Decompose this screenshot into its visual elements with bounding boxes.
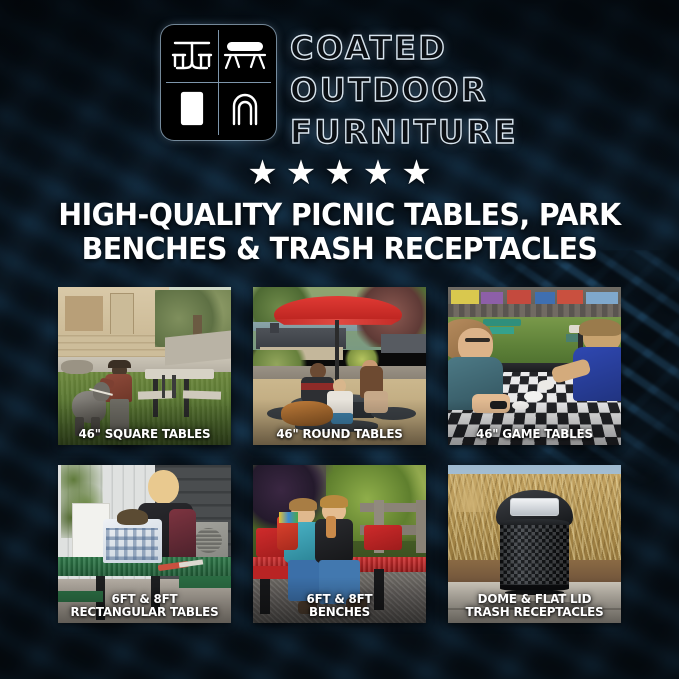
star-icon: ★ xyxy=(286,156,316,190)
logo-word-coated: COATED xyxy=(290,27,518,69)
headline: HIGH-QUALITY PICNIC TABLES, PARK BENCHES… xyxy=(24,199,655,267)
brand-logo: COATED OUTDOOR FURNITURE xyxy=(0,25,679,154)
product-caption: 46" SQUARE TABLES xyxy=(62,427,226,440)
bike-rack-arch-icon xyxy=(219,83,272,136)
star-icon: ★ xyxy=(324,156,354,190)
logo-word-furniture: FURNITURE xyxy=(290,111,518,153)
logo-icon-grid xyxy=(161,25,276,140)
star-icon: ★ xyxy=(401,156,431,190)
logo-wordmark: COATED OUTDOOR FURNITURE xyxy=(290,25,518,154)
product-caption: 6FT & 8FT RECTANGULAR TABLES xyxy=(62,592,226,618)
promo-banner: COATED OUTDOOR FURNITURE ★ ★ ★ ★ ★ HIGH-… xyxy=(0,0,679,679)
product-tile-trash-receptacles[interactable]: DOME & FLAT LID TRASH RECEPTACLES xyxy=(448,465,621,623)
product-caption: 6FT & 8FT BENCHES xyxy=(257,592,421,618)
product-tile-round-tables[interactable]: 46" ROUND TABLES xyxy=(253,287,426,445)
logo-word-outdoor: OUTDOOR xyxy=(290,69,518,111)
product-tile-square-tables[interactable]: 46" SQUARE TABLES xyxy=(58,287,231,445)
bench-icon xyxy=(219,30,272,83)
product-caption: 46" GAME TABLES xyxy=(452,427,616,440)
star-icon: ★ xyxy=(247,156,277,190)
trash-receptacle-icon xyxy=(166,83,219,136)
product-tile-game-tables[interactable]: 46" GAME TABLES xyxy=(448,287,621,445)
product-caption: DOME & FLAT LID TRASH RECEPTACLES xyxy=(452,592,616,618)
product-tile-benches[interactable]: 6FT & 8FT BENCHES xyxy=(253,465,426,623)
star-rating: ★ ★ ★ ★ ★ xyxy=(0,156,679,190)
picnic-table-icon xyxy=(166,30,219,83)
product-grid: 46" SQUARE TABLES xyxy=(58,287,622,623)
product-caption: 46" ROUND TABLES xyxy=(257,427,421,440)
product-tile-rectangular-tables[interactable]: 6FT & 8FT RECTANGULAR TABLES xyxy=(58,465,231,623)
star-icon: ★ xyxy=(363,156,393,190)
